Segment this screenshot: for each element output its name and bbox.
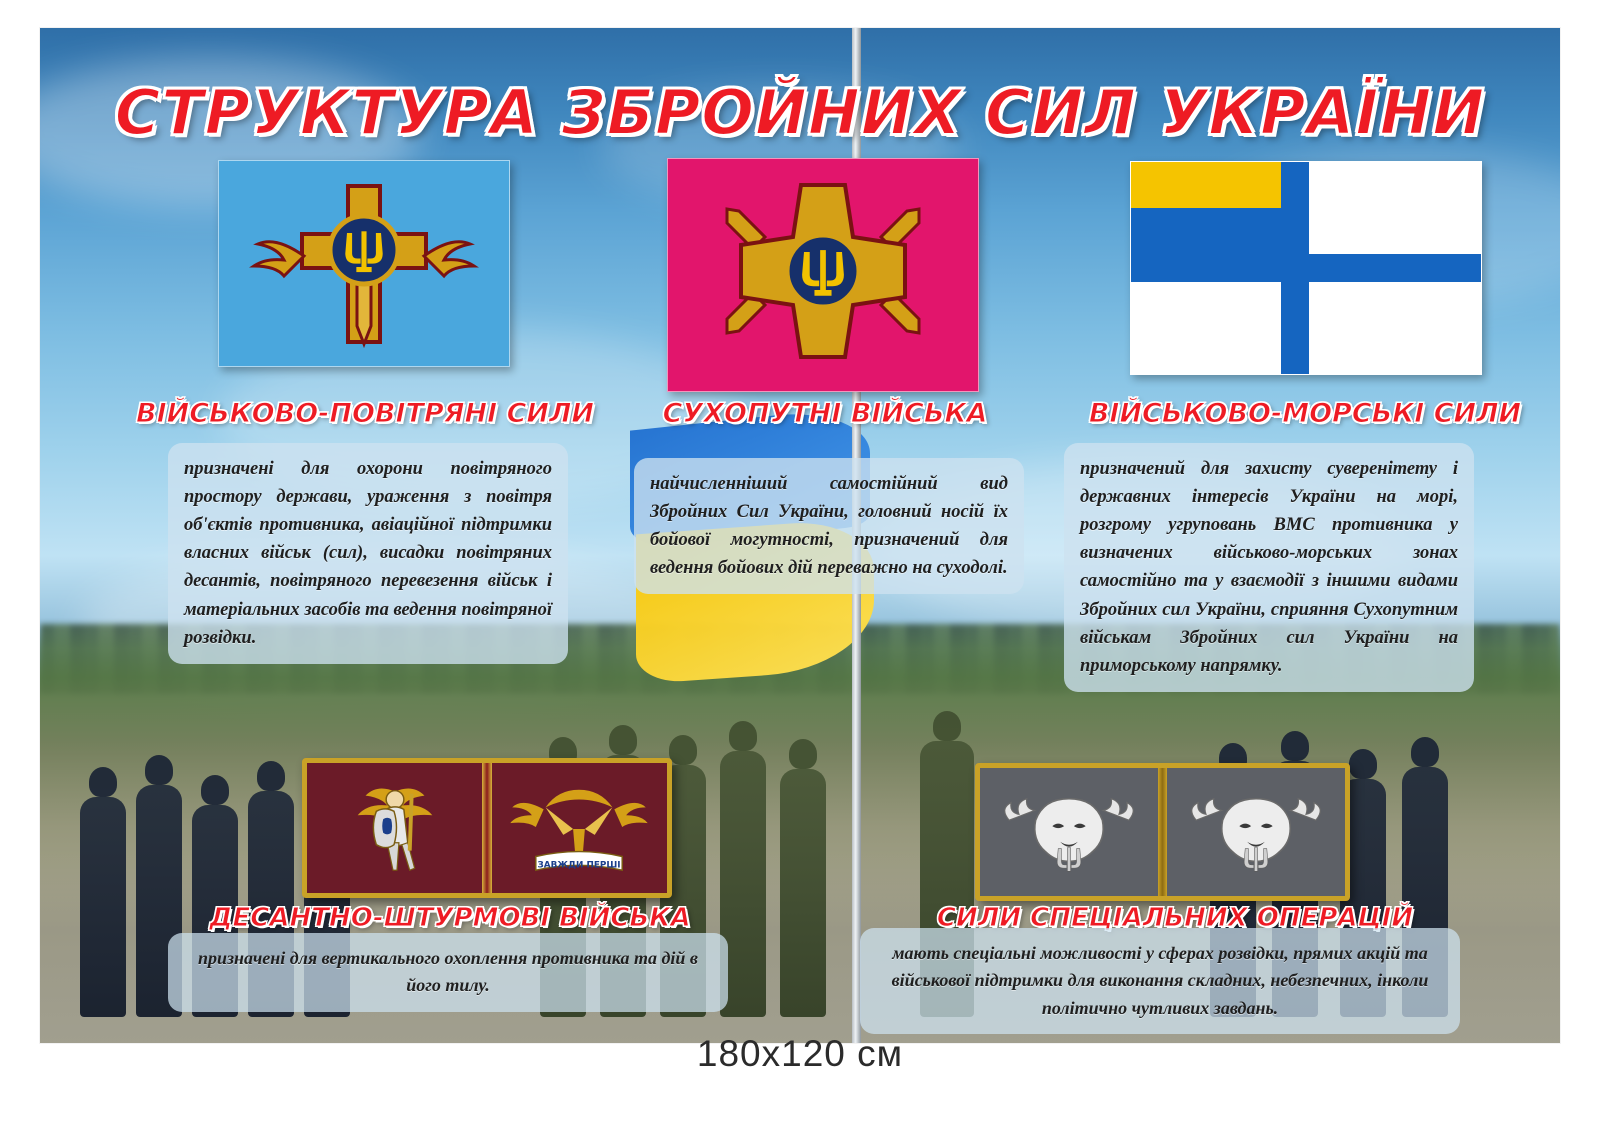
- banner-pole-divider: [1158, 768, 1168, 896]
- air-assault-banner-left: [307, 763, 482, 893]
- air-assault-motto: ЗАВЖДИ ПЕРШІ: [538, 860, 621, 870]
- poster-canvas: СТРУКТУРА ЗБРОЙНИХ СИЛ УКРАЇНИ: [40, 28, 1560, 1043]
- air-assault-banner: ЗАВЖДИ ПЕРШІ: [302, 758, 672, 898]
- soldier-silhouette: [780, 769, 826, 1017]
- land-forces-flag: [667, 158, 979, 392]
- navy-description: призначений для захисту суверенітету і д…: [1064, 443, 1474, 692]
- air-force-description: призначені для охорони повітряного прост…: [168, 443, 568, 664]
- navy-flag: [1130, 161, 1482, 375]
- special-operations-description: мають спеціальні можливості у сферах роз…: [860, 928, 1460, 1034]
- air-force-flag: [218, 160, 510, 367]
- banner-pole-divider: [482, 763, 492, 893]
- sof-banner-right: [1167, 768, 1345, 896]
- navy-heading: ВІЙСЬКОВО-МОРСЬКІ СИЛИ: [1050, 398, 1560, 429]
- page-title: СТРУКТУРА ЗБРОЙНИХ СИЛ УКРАЇНИ: [40, 76, 1560, 149]
- air-assault-banner-right: ЗАВЖДИ ПЕРШІ: [492, 763, 667, 893]
- sof-banner-left: [980, 768, 1158, 896]
- special-operations-banner: [975, 763, 1350, 901]
- air-assault-description: призначені для вертикального охоплення п…: [168, 933, 728, 1012]
- air-assault-heading: ДЕСАНТНО-ШТУРМОВІ ВІЙСЬКА: [170, 903, 730, 933]
- land-forces-heading: СУХОПУТНІ ВІЙСЬКА: [610, 398, 1040, 429]
- size-caption: 180х120 см: [0, 1033, 1600, 1075]
- air-force-heading: ВІЙСЬКОВО-ПОВІТРЯНІ СИЛИ: [130, 398, 600, 429]
- soldier-silhouette: [80, 797, 126, 1017]
- land-forces-description: найчисленніший самостійний вид Збройних …: [634, 458, 1024, 594]
